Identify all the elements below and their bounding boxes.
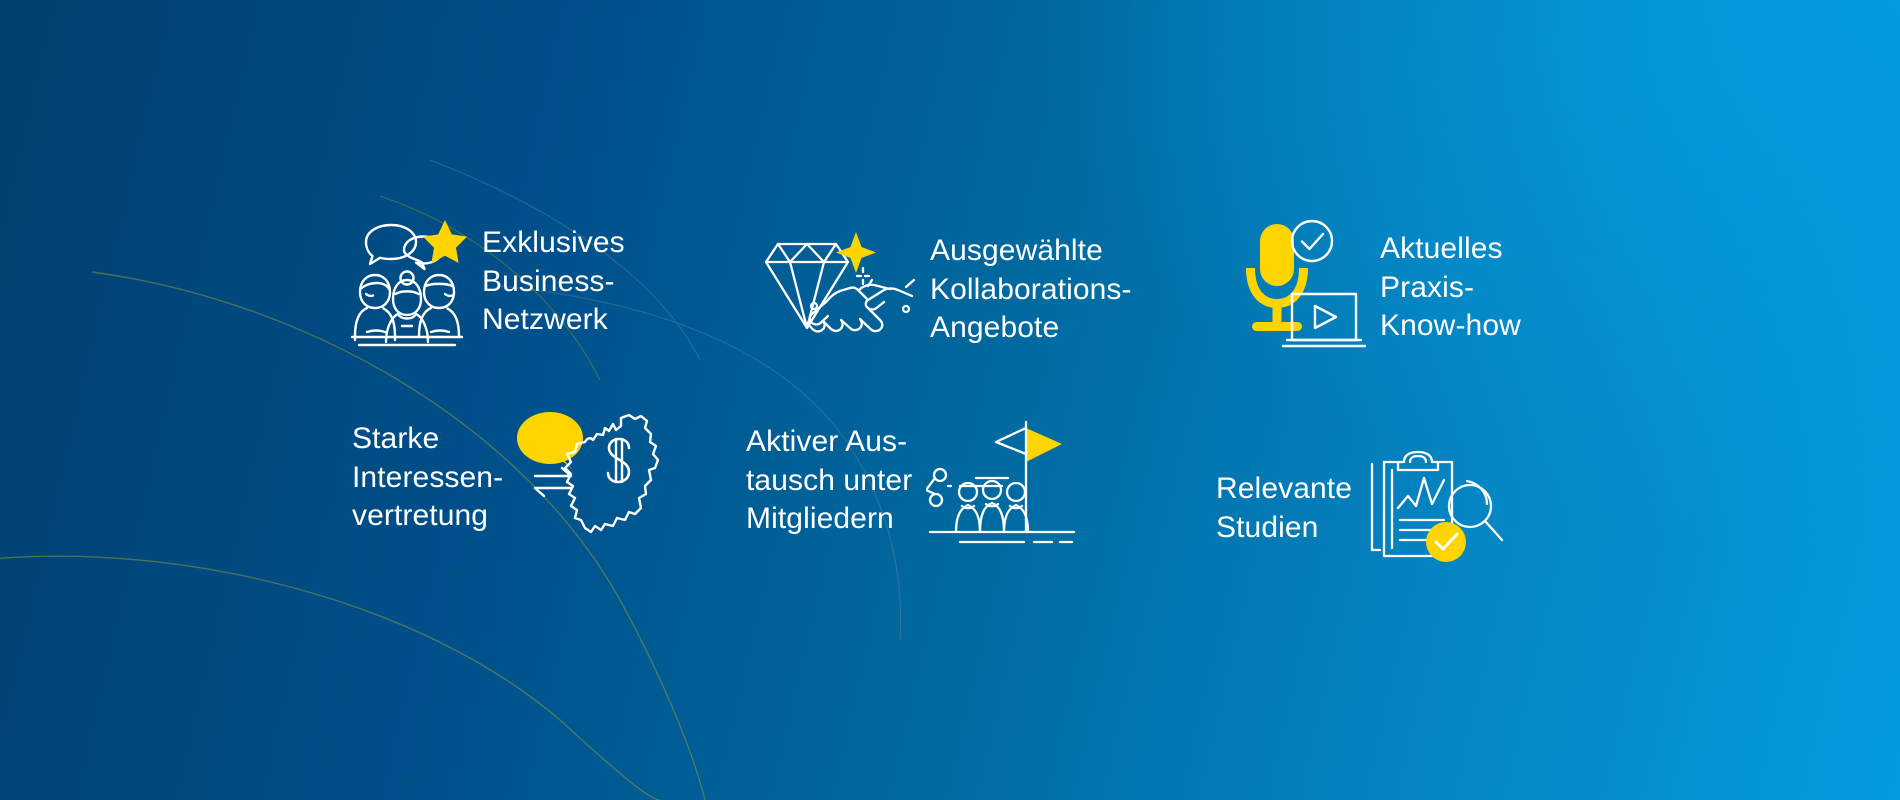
benefit-label-interests: Starke Interessen- vertretung	[352, 420, 503, 536]
benefit-item-interests[interactable]: Starke Interessen- vertretung	[352, 408, 665, 548]
benefit-item-studies[interactable]: Relevante Studien	[1216, 450, 1506, 568]
benefit-label-network: Exklusives Business- Netzwerk	[482, 224, 625, 340]
benefits-banner: Exklusives Business- Netzwerk	[0, 0, 1900, 800]
benefit-item-exchange[interactable]: Aktiver Aus- tausch unter Mitgliedern	[746, 416, 1078, 546]
paragraph-symbol	[608, 439, 629, 482]
benefit-item-knowhow[interactable]: Aktuelles Praxis- Know-how	[1238, 218, 1521, 358]
benefit-label-collaboration: Ausgewählte Kollaborations- Angebote	[930, 232, 1132, 348]
benefit-item-network[interactable]: Exklusives Business- Netzwerk	[346, 216, 625, 348]
benefit-label-exchange: Aktiver Aus- tausch unter Mitgliedern	[746, 423, 912, 539]
microphone-icon	[1246, 224, 1308, 331]
network-node	[930, 494, 942, 506]
benefit-label-studies: Relevante Studien	[1216, 470, 1352, 547]
germany-map-paragraph-icon	[517, 408, 665, 548]
speech-bubble-icon	[517, 412, 583, 470]
benefits-grid: Exklusives Business- Netzwerk	[0, 0, 1900, 800]
check-circle-icon	[1292, 221, 1332, 261]
network-node	[934, 469, 946, 481]
microphone-laptop-play-icon	[1238, 218, 1366, 358]
flag-icon	[1026, 428, 1062, 462]
people-meeting-star-icon	[346, 216, 468, 348]
exchange-arrow-left	[535, 488, 571, 496]
benefit-item-collaboration[interactable]: Ausgewählte Kollaborations- Angebote	[760, 230, 1132, 350]
people-flag-network-icon	[926, 416, 1078, 546]
benefit-label-knowhow: Aktuelles Praxis- Know-how	[1380, 230, 1521, 346]
star-icon	[423, 220, 467, 263]
check-badge-icon	[1426, 522, 1466, 562]
sparkle-icon	[836, 232, 876, 273]
chart-line	[1398, 478, 1444, 508]
diamond-handshake-icon	[760, 230, 916, 350]
clipboard-chart-magnifier-icon	[1366, 450, 1506, 568]
